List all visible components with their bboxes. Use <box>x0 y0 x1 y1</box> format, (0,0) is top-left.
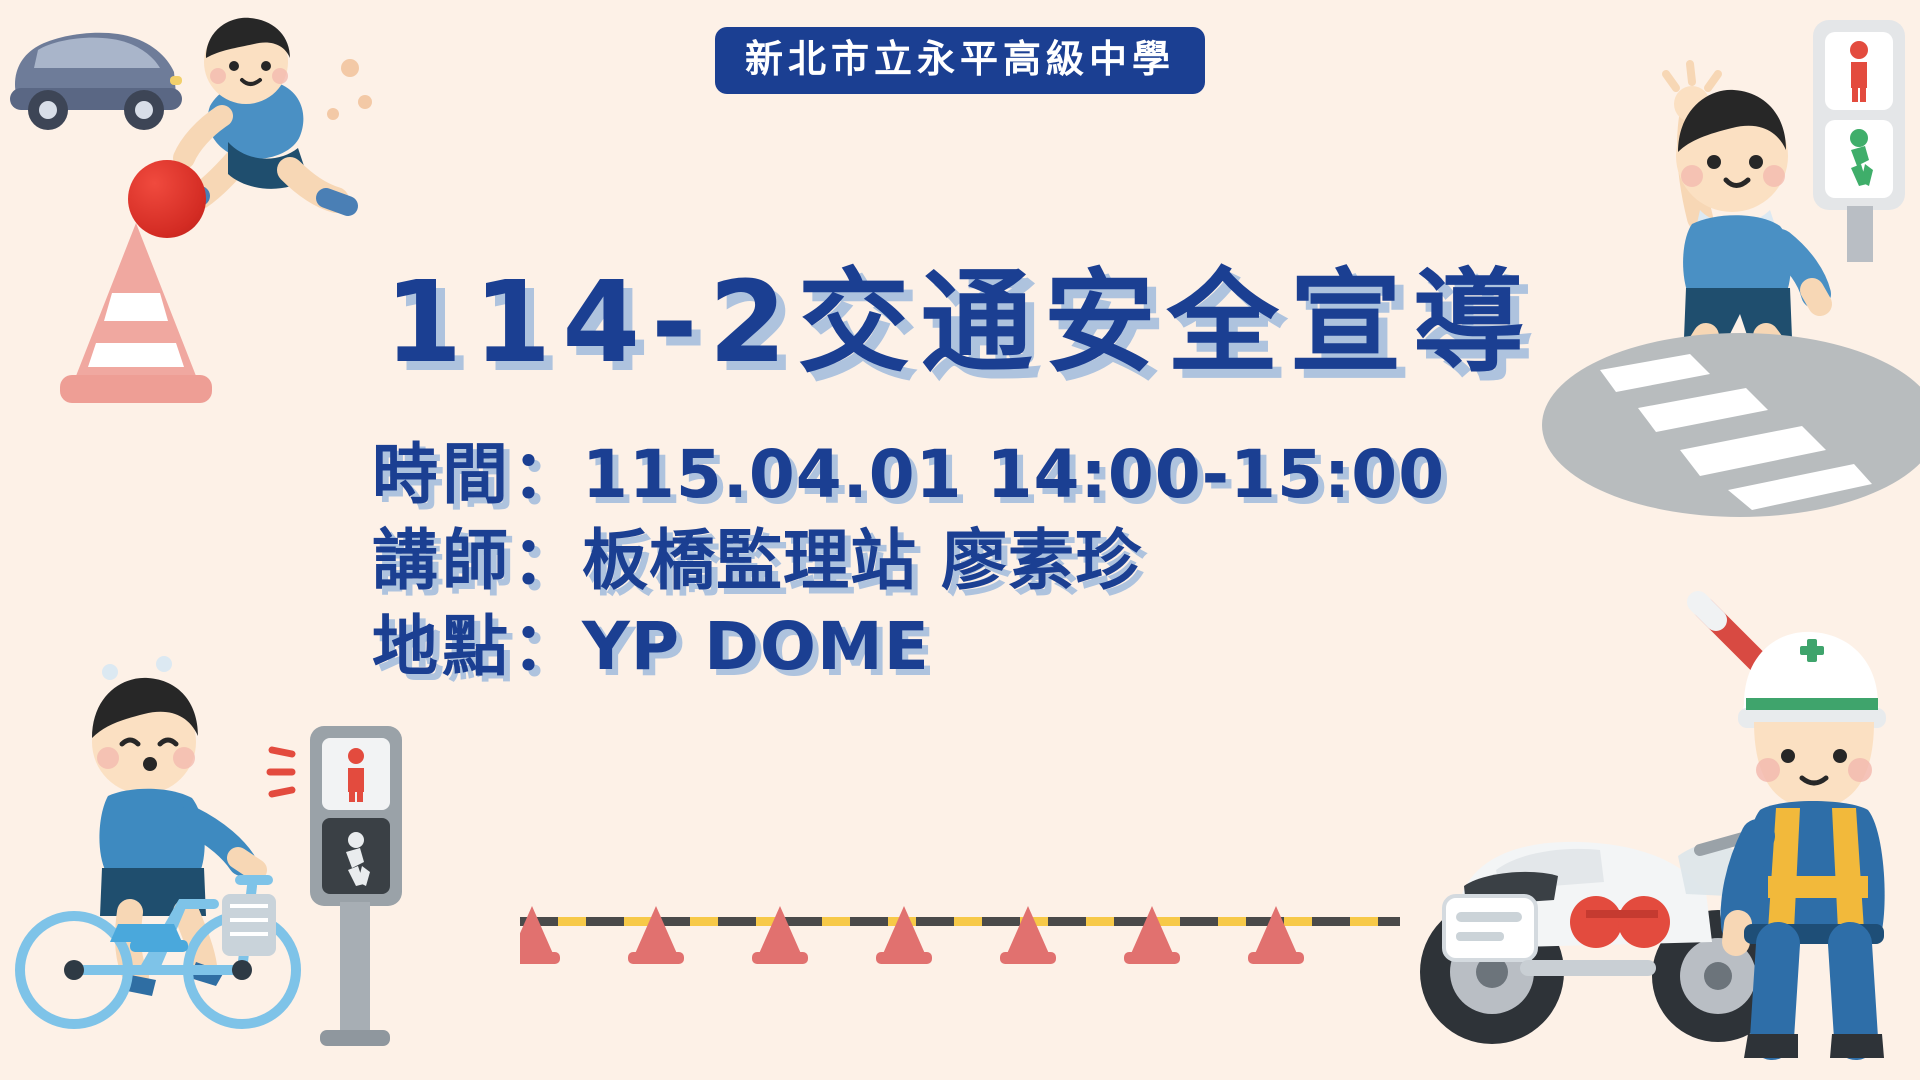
detail-row-speaker: 講師：板橋監理站 廖素珍 <box>372 518 1445 604</box>
school-name-badge: 新北市立永平高級中學 <box>715 27 1205 94</box>
signal-sound-lines-icon <box>262 742 302 802</box>
detail-label-time: 時間： <box>372 436 582 513</box>
police-officer-illustration <box>1672 586 1920 1066</box>
detail-value-location: YP DOME <box>582 608 930 685</box>
detail-value-time: 115.04.01 14:00-15:00 <box>582 436 1445 513</box>
detail-row-time: 時間：115.04.01 14:00-15:00 <box>372 432 1445 518</box>
detail-value-speaker: 板橋監理站 廖素珍 <box>582 522 1142 599</box>
detail-label-location: 地點： <box>372 608 582 685</box>
page-title: 114-2交通安全宣導 <box>0 265 1920 383</box>
boy-on-bicycle-illustration <box>14 640 314 1060</box>
detail-label-speaker: 講師： <box>372 522 582 599</box>
detail-row-location: 地點：YP DOME <box>372 604 1445 690</box>
cone-barrier-tape-illustration <box>520 890 1400 970</box>
pedestrian-signal-illustration <box>296 720 416 1050</box>
poster-canvas: 新北市立永平高級中學 114-2交通安全宣導 時間：115.04.01 14:0… <box>0 0 1920 1080</box>
event-details: 時間：115.04.01 14:00-15:00 講師：板橋監理站 廖素珍 地點… <box>372 432 1445 689</box>
